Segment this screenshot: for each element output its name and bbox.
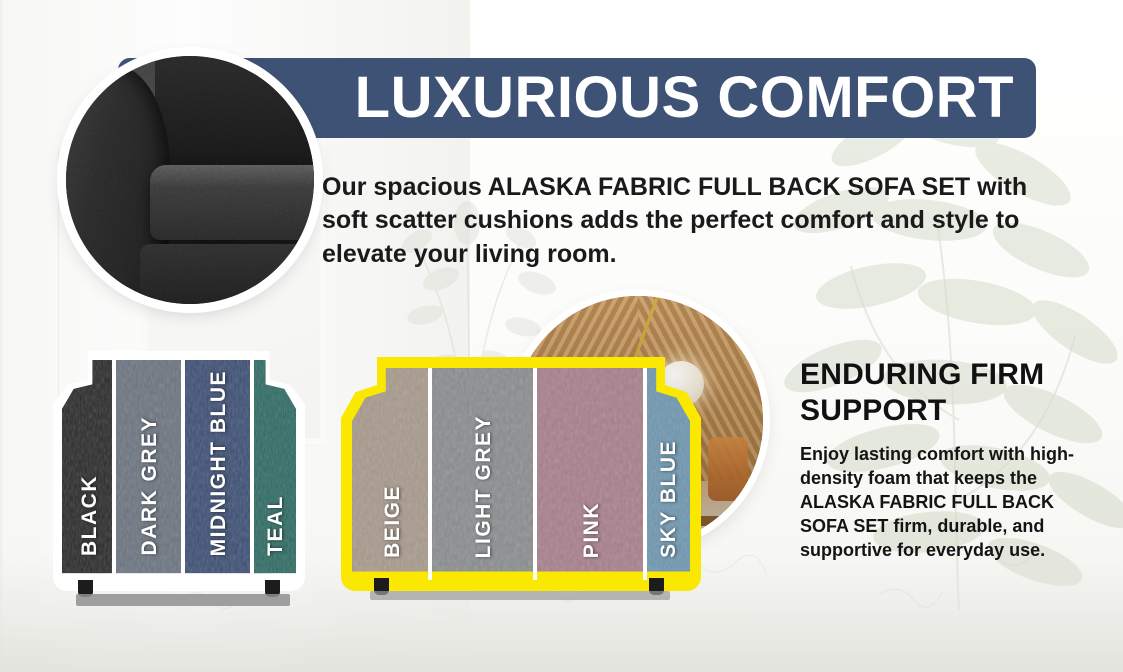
- black-fabric-detail-circle: [66, 56, 314, 304]
- sofa-color-swatches: BEIGELIGHT GREYPINKSKY BLUE: [352, 368, 690, 580]
- promo-banner-stage: LUXURIOUS COMFORT Our spacious ALASKA FA…: [0, 0, 1123, 672]
- color-label-midnight-blue: MIDNIGHT BLUE: [207, 370, 231, 556]
- color-label-beige: BEIGE: [381, 485, 405, 558]
- panel-divider: [112, 360, 116, 582]
- color-label-black: BLACK: [78, 475, 102, 556]
- panel-divider: [428, 368, 432, 580]
- panel-divider: [181, 360, 185, 582]
- color-label-pink: PINK: [580, 502, 604, 558]
- fabric-texture-overlay: [66, 56, 314, 304]
- section-body-support: Enjoy lasting comfort with high-density …: [800, 442, 1092, 563]
- section-heading-support: ENDURING FIRM SUPPORT: [800, 357, 1100, 429]
- sofa-shadow: [370, 591, 670, 600]
- panel-divider: [643, 368, 647, 580]
- color-label-dark-grey: DARK GREY: [138, 416, 162, 556]
- armchair-shadow: [76, 594, 290, 606]
- color-label-sky-blue: SKY BLUE: [657, 440, 681, 558]
- panel-divider: [533, 368, 537, 580]
- armchair-color-swatches: BLACKDARK GREYMIDNIGHT BLUETEAL: [62, 360, 296, 582]
- lead-paragraph: Our spacious ALASKA FABRIC FULL BACK SOF…: [322, 171, 1062, 271]
- color-label-teal: TEAL: [264, 495, 288, 556]
- panel-divider: [250, 360, 254, 582]
- page-title: LUXURIOUS COMFORT: [355, 69, 1014, 127]
- color-label-light-grey: LIGHT GREY: [472, 415, 496, 558]
